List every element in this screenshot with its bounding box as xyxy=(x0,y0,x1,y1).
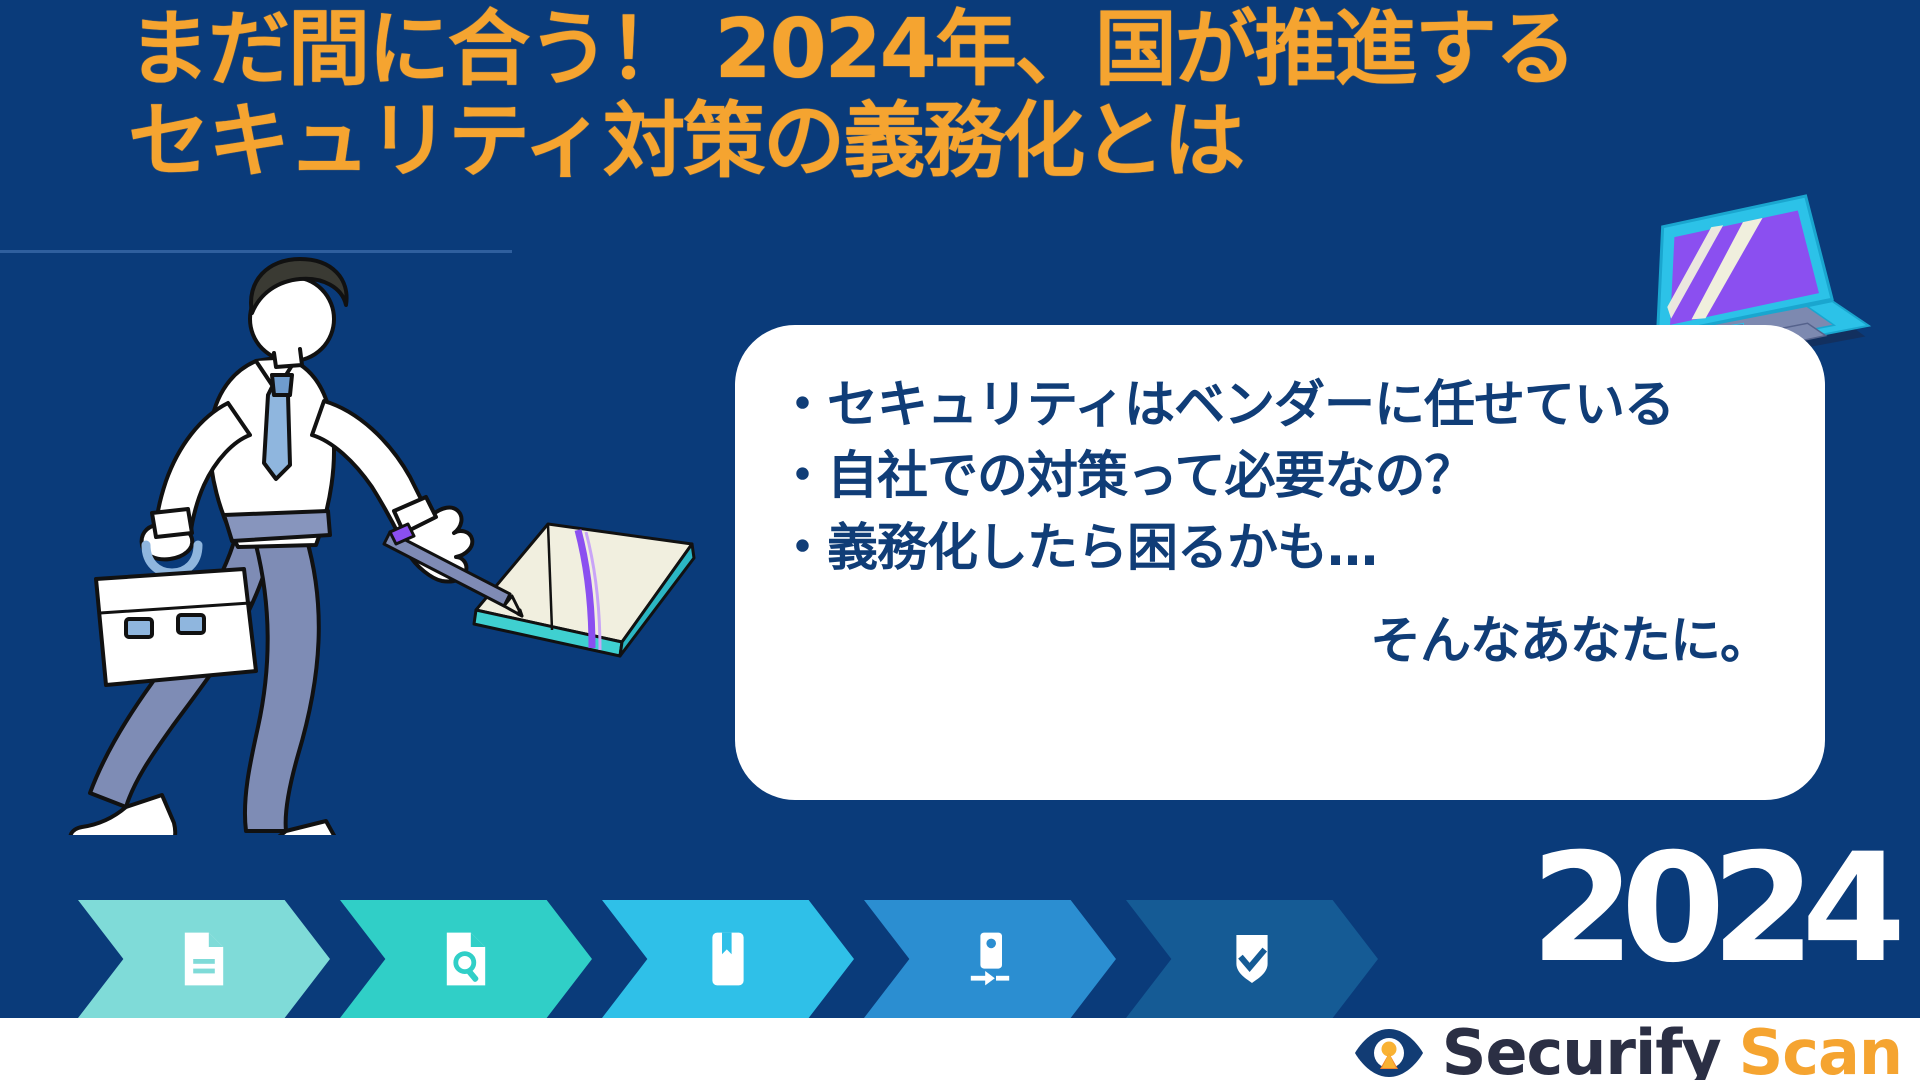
title-line-2: セキュリティ対策の義務化とは xyxy=(128,100,1575,184)
brand-word-securify: Securify xyxy=(1442,1016,1721,1080)
step-document[interactable] xyxy=(78,900,330,1018)
page-title: まだ間に合う！ 2024年、国が推進する セキュリティ対策の義務化とは xyxy=(128,8,1575,183)
title-underline-rule xyxy=(0,250,512,253)
step-scan[interactable] xyxy=(340,900,592,1018)
step-verified[interactable] xyxy=(1126,900,1378,1018)
brand-lockup[interactable]: SecurifyScan xyxy=(1352,1022,1902,1080)
eye-keyhole-icon xyxy=(1352,1025,1426,1080)
bubble-closing-line: そんなあなたに。 xyxy=(777,606,1825,677)
poster-canvas: まだ間に合う！ 2024年、国が推進する セキュリティ対策の義務化とは xyxy=(0,0,1920,1080)
year-badge: 2024 xyxy=(1531,834,1892,984)
speech-bubble: ・セキュリティはベンダーに任せている ・自社での対策って必要なの？ ・義務化した… xyxy=(735,325,1825,800)
document-search-icon xyxy=(442,930,490,988)
brand-word-scan: Scan xyxy=(1739,1016,1902,1080)
brand-wordmark: SecurifyScan xyxy=(1442,1022,1902,1080)
step-deploy[interactable] xyxy=(864,900,1116,1018)
bubble-bullet-3: ・義務化したら困るかも… xyxy=(777,513,1825,584)
notebook-pencil-illustration xyxy=(380,490,730,670)
shield-check-icon xyxy=(1228,930,1276,988)
step-report[interactable] xyxy=(602,900,854,1018)
device-transfer-icon xyxy=(966,930,1014,988)
bubble-bullet-2: ・自社での対策って必要なの？ xyxy=(777,441,1825,512)
bookmark-icon xyxy=(704,930,752,988)
bubble-bullet-1: ・セキュリティはベンダーに任せている xyxy=(777,370,1825,441)
title-line-1: まだ間に合う！ 2024年、国が推進する xyxy=(128,8,1575,92)
process-step-strip xyxy=(78,900,1388,1018)
document-icon xyxy=(180,930,228,988)
